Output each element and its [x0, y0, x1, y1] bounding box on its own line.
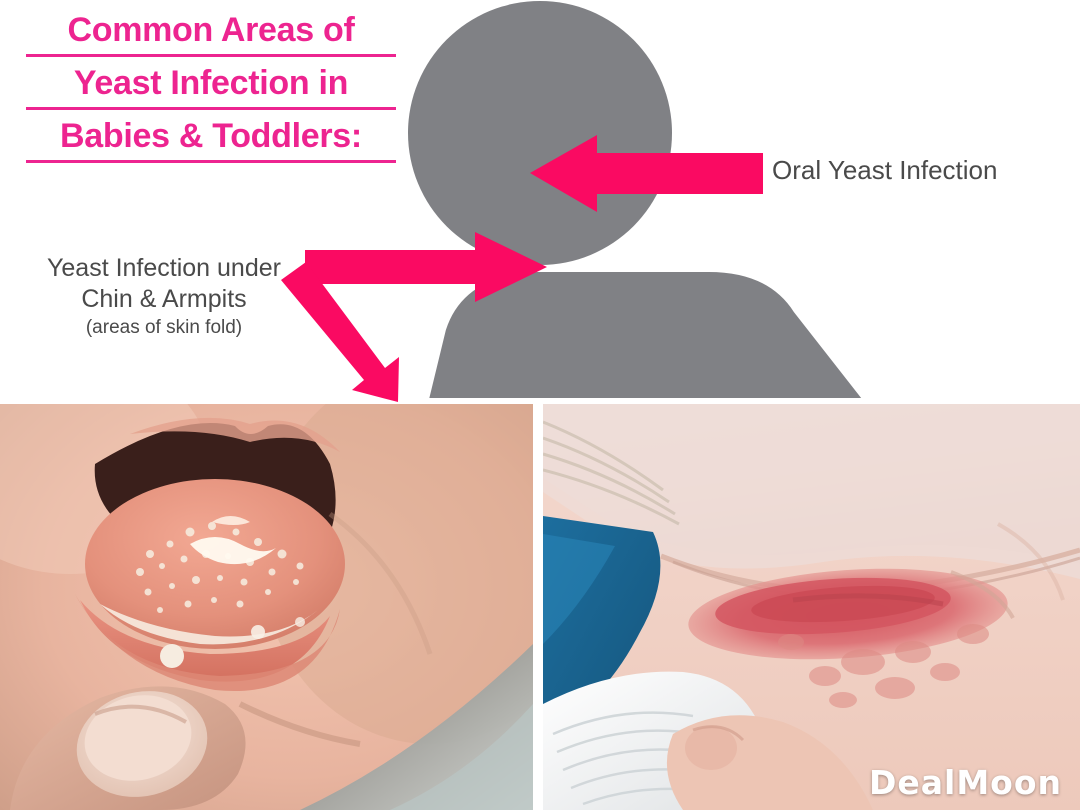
oral-thrush-photo [0, 404, 533, 810]
arrow-to-chin-icon [305, 232, 547, 302]
callout-label-oral: Oral Yeast Infection [772, 155, 1072, 186]
title-line-3: Babies & Toddlers: [26, 114, 396, 163]
oral-thrush-illustration [0, 404, 533, 810]
infographic-header: Common Areas of Yeast Infection in Babie… [0, 0, 1080, 402]
title-line-2: Yeast Infection in [26, 61, 396, 110]
neck-rash-illustration [543, 404, 1080, 810]
callout-label-chin-armpits: Yeast Infection under Chin & Armpits (ar… [14, 222, 314, 372]
watermark-dealmoon: DealMoon [869, 763, 1062, 802]
title-line-1: Common Areas of [26, 8, 396, 57]
photo-strip: DealMoon [0, 404, 1080, 810]
page-title: Common Areas of Yeast Infection in Babie… [26, 8, 396, 167]
callout-label-chin-armpits-sub: (areas of skin fold) [14, 315, 314, 341]
callout-label-chin-armpits-main: Yeast Infection under Chin & Armpits [47, 254, 281, 313]
infographic-page: Common Areas of Yeast Infection in Babie… [0, 0, 1080, 810]
neck-fold-rash-photo: DealMoon [543, 404, 1080, 810]
arrow-to-mouth-icon [530, 135, 763, 212]
